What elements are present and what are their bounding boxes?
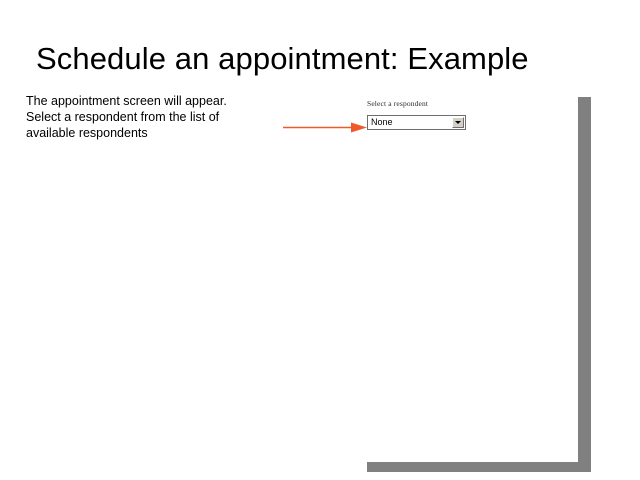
embedded-screenshot-panel [367,92,578,462]
page-title: Schedule an appointment: Example [36,40,616,78]
slide-canvas: Schedule an appointment: Example The app… [0,0,640,480]
right-arrow-icon [283,121,367,134]
chevron-down-glyph [455,121,461,124]
screenshot-shadow-right [578,97,591,472]
body-text: The appointment screen will appear. Sele… [26,93,254,141]
respondent-field-label: Select a respondent [367,99,472,109]
chevron-down-icon[interactable] [452,117,464,128]
respondent-select-value: None [368,116,465,129]
respondent-select[interactable]: None [367,115,466,130]
respondent-field-group: Select a respondent None [367,99,472,130]
screenshot-shadow-bottom [367,462,591,472]
